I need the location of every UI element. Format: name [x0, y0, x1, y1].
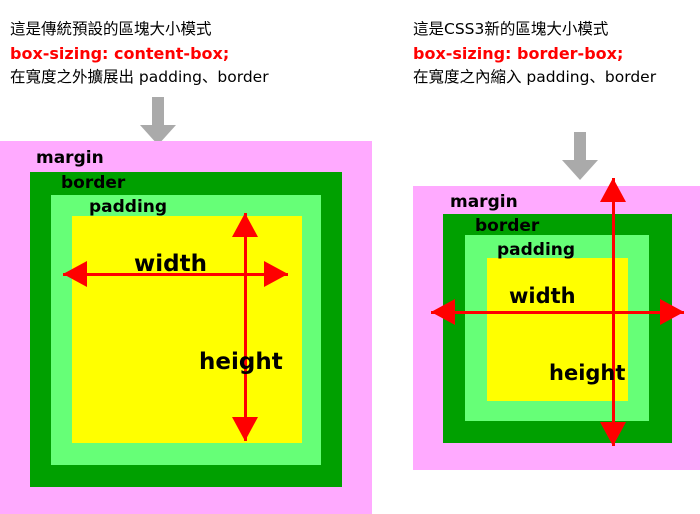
caption-line-1: 這是傳統預設的區塊大小模式	[10, 18, 269, 42]
caption-line-1: 這是CSS3新的區塊大小模式	[413, 18, 656, 42]
width-label: width	[509, 286, 576, 307]
arrow-head-top	[232, 213, 258, 237]
arrow-head	[562, 160, 598, 180]
margin-label: margin	[36, 150, 104, 167]
padding-label: padding	[497, 242, 575, 259]
caption-line-3: 在寬度之外擴展出 padding、border	[10, 66, 269, 90]
arrow-head-right	[660, 299, 684, 325]
caption-code-border-box: box-sizing: border-box;	[413, 42, 656, 66]
height-arrow	[232, 213, 258, 441]
arrow-shaft	[574, 132, 586, 162]
border-label: border	[475, 218, 539, 235]
height-label: height	[549, 363, 625, 384]
caption-content-box: 這是傳統預設的區塊大小模式 box-sizing: content-box; 在…	[10, 18, 269, 89]
diagram-canvas: 這是傳統預設的區塊大小模式 box-sizing: content-box; 在…	[0, 0, 700, 514]
padding-label: padding	[89, 199, 167, 216]
arrow-head-bottom	[600, 422, 626, 446]
gray-down-arrow-icon	[562, 132, 598, 180]
arrow-head-right	[264, 261, 288, 287]
width-label: width	[134, 253, 207, 276]
border-label: border	[61, 175, 125, 192]
arrow-line	[431, 311, 684, 314]
arrow-shaft	[152, 97, 164, 127]
box-model-border-box: margin border padding width height	[413, 186, 700, 470]
caption-code-content-box: box-sizing: content-box;	[10, 42, 269, 66]
gray-down-arrow-icon	[140, 97, 176, 145]
caption-line-3: 在寬度之內縮入 padding、border	[413, 66, 656, 90]
box-model-content-box: margin border padding width height	[0, 141, 372, 514]
arrow-head-bottom	[232, 417, 258, 441]
arrow-head-left	[63, 261, 87, 287]
height-label: height	[199, 351, 283, 374]
height-arrow	[600, 178, 626, 446]
margin-label: margin	[450, 194, 518, 211]
arrow-head-top	[600, 178, 626, 202]
caption-border-box: 這是CSS3新的區塊大小模式 box-sizing: border-box; 在…	[413, 18, 656, 89]
arrow-line	[244, 213, 247, 441]
arrow-line	[612, 178, 615, 446]
arrow-head-left	[431, 299, 455, 325]
